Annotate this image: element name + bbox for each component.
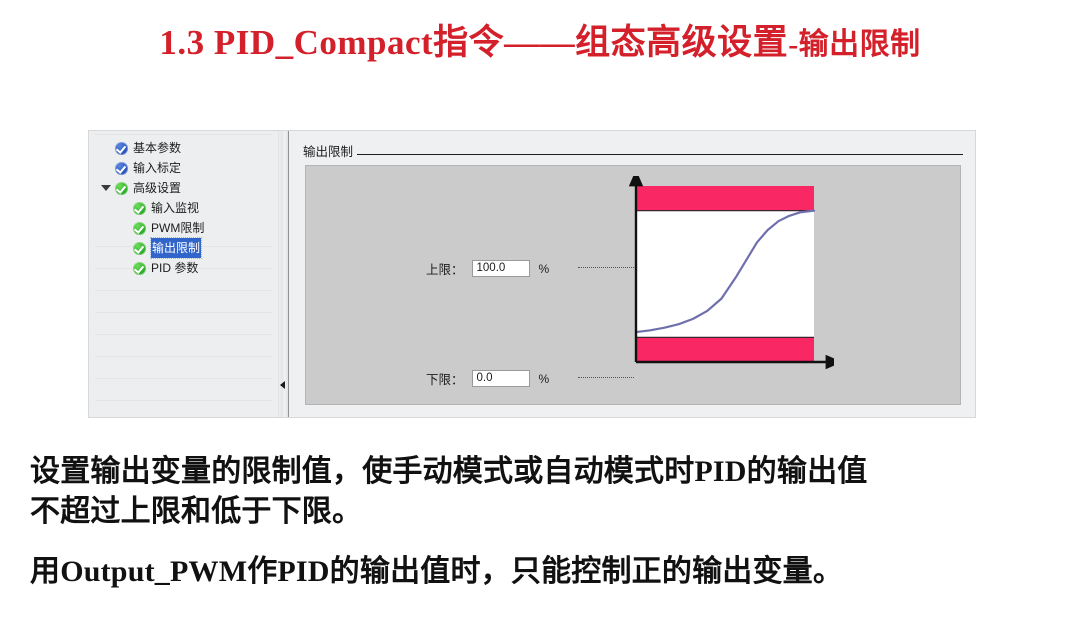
pid-compact-configuration-dialog: 基本参数 输入标定 高级设置 输入监视 PWM限制 输出限制 PID 参数 [88, 130, 976, 418]
tree-item-label: 输出限制 [151, 238, 201, 258]
group-header: 输出限制 [303, 141, 963, 159]
tree-item-basic-parameters[interactable]: 基本参数 [89, 138, 278, 158]
pane-splitter[interactable] [279, 131, 289, 417]
tree-item-input-monitoring[interactable]: 输入监视 [89, 198, 278, 218]
tree-item-pwm-limits[interactable]: PWM限制 [89, 218, 278, 238]
tree-item-label: PID 参数 [151, 258, 198, 278]
check-circle-blue-icon [115, 142, 128, 155]
tree-item-advanced-settings[interactable]: 高级设置 [89, 178, 278, 198]
output-limits-group-body: 上限： % 下限： % [305, 165, 961, 405]
description-line-2: 不超过上限和低于下限。 [30, 492, 1060, 532]
group-divider [357, 154, 963, 155]
upper-limit-label: 上限： [426, 259, 464, 278]
description-line-1: 设置输出变量的限制值，使手动模式或自动模式时PID的输出值 [30, 452, 1060, 492]
tree-item-pid-parameters[interactable]: PID 参数 [89, 258, 278, 278]
upper-limit-input[interactable] [472, 260, 530, 277]
band-above-upper-limit [636, 186, 814, 211]
tree-item-label: PWM限制 [151, 218, 204, 238]
page-title: 1.3 PID_Compact指令——组态高级设置-输出限制 [0, 14, 1080, 65]
tree-item-label: 输入监视 [151, 198, 199, 218]
tree-item-label: 基本参数 [133, 138, 181, 158]
navigation-tree[interactable]: 基本参数 输入标定 高级设置 输入监视 PWM限制 输出限制 PID 参数 [89, 131, 279, 417]
upper-limit-row: 上限： % [426, 259, 549, 278]
tree-item-label: 高级设置 [133, 178, 181, 198]
description-paragraph-1: 设置输出变量的限制值，使手动模式或自动模式时PID的输出值 不超过上限和低于下限… [30, 452, 1060, 532]
output-limits-chart [624, 176, 834, 376]
title-suffix: -输出限制 [788, 28, 921, 61]
output-limits-diagram [624, 176, 834, 376]
tree-item-input-scaling[interactable]: 输入标定 [89, 158, 278, 178]
check-circle-green-icon [133, 242, 146, 255]
lower-limit-row: 下限： % [426, 369, 549, 388]
tree-item-label: 输入标定 [133, 158, 181, 178]
check-circle-green-icon [133, 262, 146, 275]
group-title: 输出限制 [303, 141, 357, 160]
check-circle-blue-icon [115, 162, 128, 175]
check-circle-green-icon [115, 182, 128, 195]
collapse-left-arrow-icon[interactable] [280, 381, 285, 389]
check-circle-green-icon [133, 222, 146, 235]
lower-limit-unit: % [539, 372, 550, 386]
chevron-down-icon[interactable] [101, 185, 111, 191]
tree-item-output-limits[interactable]: 输出限制 [89, 238, 278, 258]
check-circle-green-icon [133, 202, 146, 215]
band-below-lower-limit [636, 337, 814, 362]
title-number: 1.3 [159, 23, 204, 62]
description-paragraph-2: 用Output_PWM作PID的输出值时，只能控制正的输出变量。 [30, 552, 1060, 592]
upper-limit-unit: % [539, 262, 550, 276]
lower-limit-label: 下限： [426, 369, 464, 388]
band-within-limits [636, 211, 814, 338]
lower-limit-leader-line [578, 377, 634, 378]
lower-limit-input[interactable] [472, 370, 530, 387]
output-limits-pane: 输出限制 上限： % 下限： % [289, 131, 975, 417]
title-main: PID_Compact指令——组态高级设置 [214, 23, 788, 62]
